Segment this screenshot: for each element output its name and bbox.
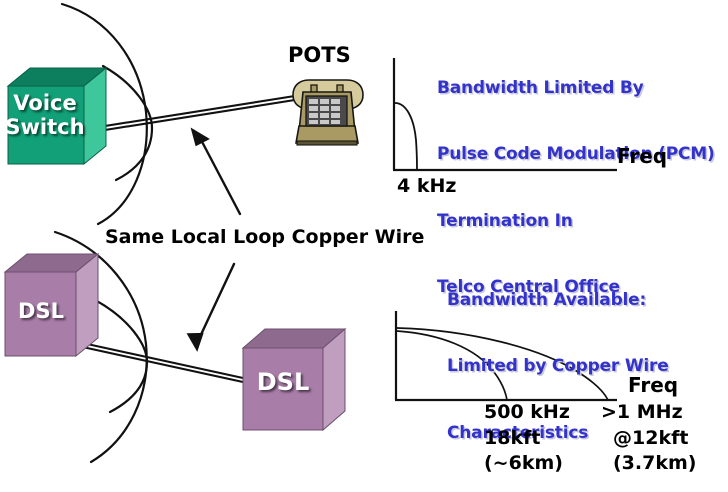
dsl-chart-xtick-1mhz: >1 MHz	[601, 402, 683, 423]
dsl-cpe-label: DSL	[243, 369, 323, 396]
copper-wire-pots-strand-b	[86, 99, 301, 133]
pots-telephone-icon[interactable]	[293, 80, 363, 145]
annotation-arrow-up	[187, 122, 240, 214]
copper-wire-dsl-strand-b	[78, 346, 243, 382]
dsl-chart-xtick-1mhz-reach-km: (3.7km)	[613, 453, 696, 474]
phone-body-lower	[296, 126, 358, 143]
pots-chart-curve-4khz	[395, 103, 417, 170]
pots-title: POTS	[288, 44, 351, 68]
pots-description-line-3: Termination In	[437, 210, 715, 232]
dsl-chart-xtick-1mhz-reach-ft: @12kft	[613, 428, 688, 449]
pots-description-line-2: Pulse Code Modulation (PCM)	[437, 143, 715, 165]
annotation-arrow-down	[187, 264, 234, 353]
phone-base	[297, 141, 357, 145]
voice-switch-label: Voice Switch	[2, 92, 88, 139]
copper-wire-pots	[86, 95, 301, 133]
dsl-chart-xtick-500khz-reach-ft: 18kft	[484, 428, 540, 449]
pots-chart-x-axis-label: Freq	[617, 145, 667, 167]
copper-wire-dsl-strand-a	[78, 342, 243, 378]
dsl-chart-x-axis-label: Freq	[628, 374, 678, 396]
same-local-loop-annotation: Same Local Loop Copper Wire	[105, 227, 424, 248]
dsl-co-label: DSL	[2, 300, 80, 324]
annotation-arrow-up-head	[187, 122, 210, 146]
pots-chart-xtick-4khz: 4 kHz	[397, 176, 456, 197]
annotation-arrow-up-shaft	[199, 136, 240, 214]
diagram-canvas: Voice Switch DSL DSL POTS Same Local Loo…	[0, 0, 728, 492]
copper-wire-dsl	[78, 342, 243, 382]
annotation-arrow-down-head	[187, 331, 207, 353]
copper-wire-pots-strand-a	[86, 95, 301, 129]
dsl-chart-xtick-500khz-reach-km: (~6km)	[484, 453, 563, 474]
annotation-arrow-down-shaft	[198, 264, 234, 341]
dsl-description-line-1: Bandwidth Available:	[447, 289, 669, 311]
pots-description-line-1: Bandwidth Limited By	[437, 77, 715, 99]
dsl-chart-xtick-500khz: 500 kHz	[484, 402, 570, 423]
